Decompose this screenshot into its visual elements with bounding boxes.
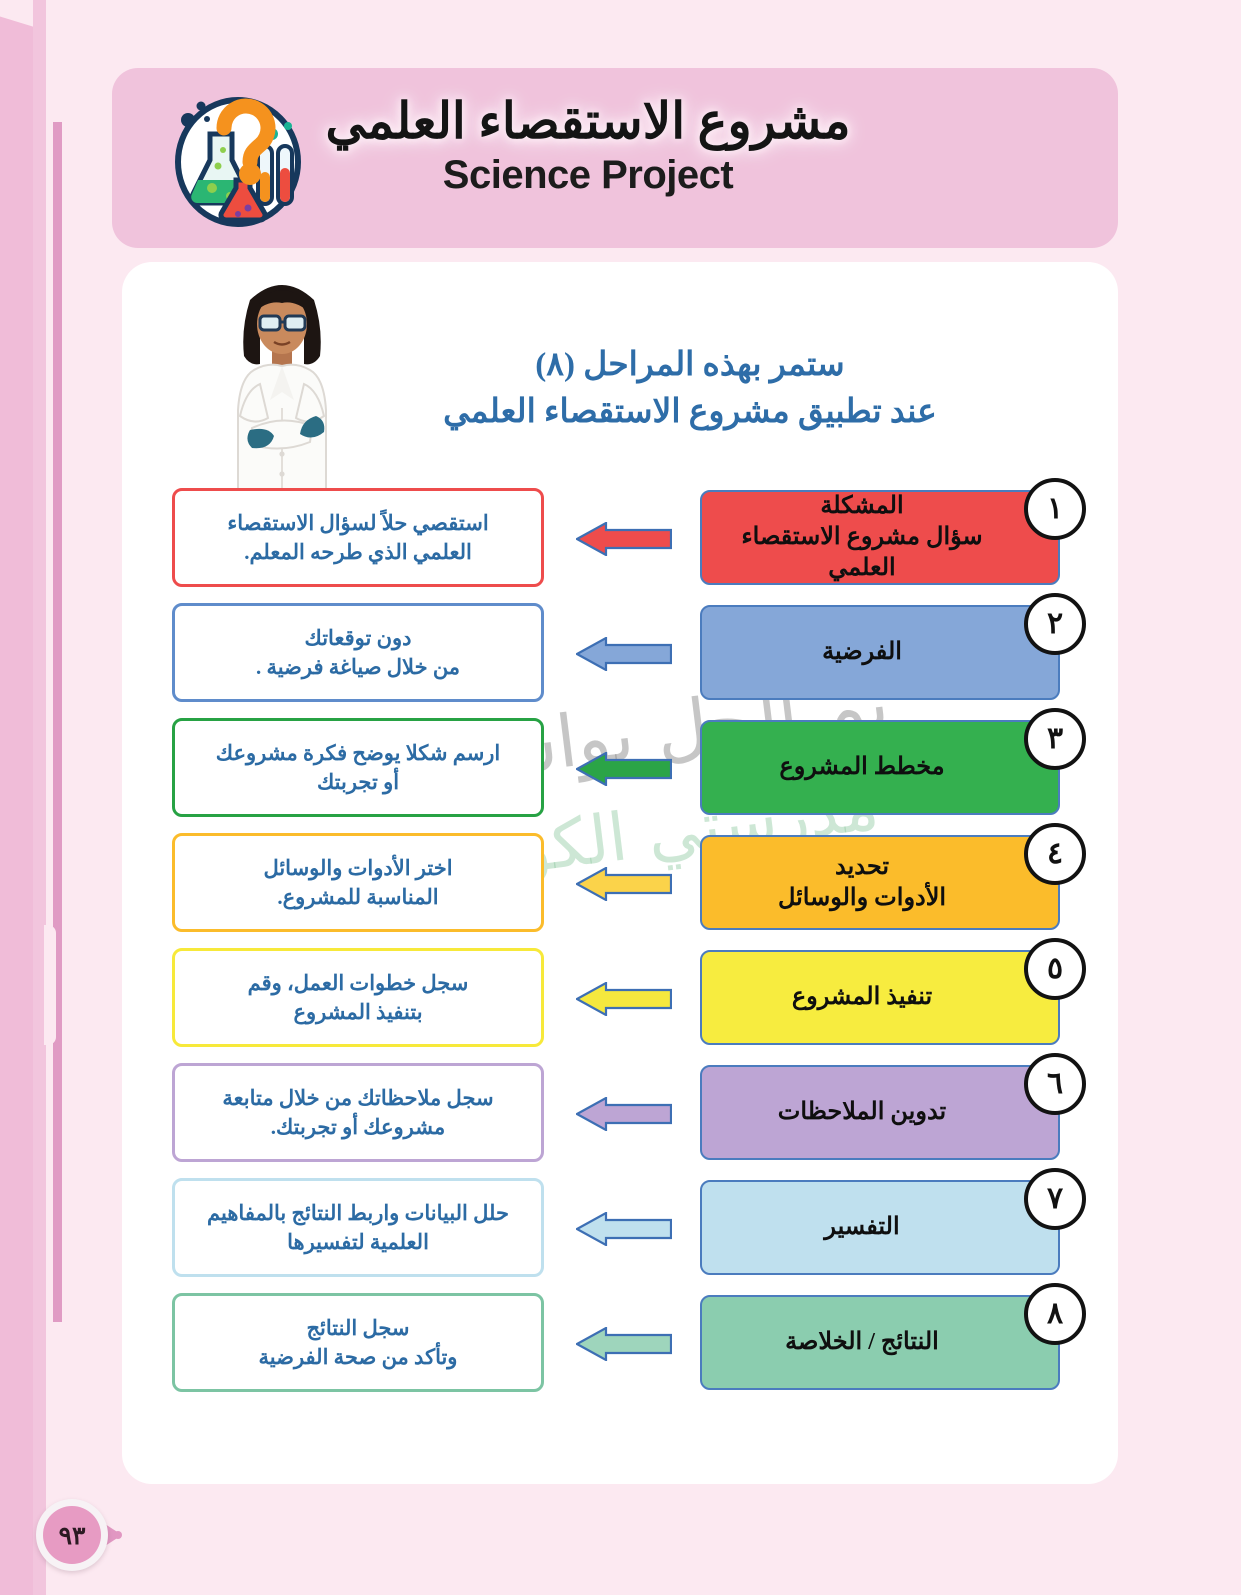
intro-text: ستمر بهذه المراحل (٨) عند تطبيق مشروع ال… <box>390 342 990 436</box>
step-note-line2-6: مشروعك أو تجربتك. <box>271 1115 446 1139</box>
step-note-box-7: حلل البيانات واربط النتائج بالمفاهيم الع… <box>172 1178 544 1277</box>
page-number: ٩٣ <box>43 1506 101 1564</box>
step-label-line1-3: مخطط المشروع <box>779 752 944 783</box>
step-arrow-4 <box>576 867 672 901</box>
step-arrow-3 <box>576 752 672 786</box>
step-label-line1-4: تحديد <box>835 854 889 880</box>
page-header: مشروع الاستقصاء العلمي Science Project <box>112 68 1118 248</box>
step-row: الفرضية ٢ دون توقعاتك من خلال صياغة فرضي… <box>160 595 1060 710</box>
step-note-line1-4: اختر الأدوات والوسائل <box>263 856 452 880</box>
page-number-badge: ٩٣ <box>30 1495 180 1575</box>
step-number-circle-7: ٧ <box>1024 1168 1086 1230</box>
header-title-group: مشروع الاستقصاء العلمي Science Project <box>238 92 938 198</box>
step-note-box-1: استقصي حلاً لسؤال الاستقصاء العلمي الذي … <box>172 488 544 587</box>
step-note-box-5: سجل خطوات العمل، وقم بتنفيذ المشروع <box>172 948 544 1047</box>
page-edge-notch <box>44 925 56 1045</box>
step-number-circle-5: ٥ <box>1024 938 1086 1000</box>
step-label-box-2: الفرضية ٢ <box>700 605 1060 700</box>
page-edge-line <box>53 122 62 1322</box>
step-note-line2-2: من خلال صياغة فرضية . <box>256 655 460 679</box>
step-arrow-1 <box>576 522 672 556</box>
step-note-line2-3: أو تجربتك <box>317 770 399 794</box>
step-note-line2-8: وتأكد من صحة الفرضية <box>259 1345 458 1369</box>
step-note-line2-7: العلمية لتفسيرها <box>287 1230 429 1254</box>
science-flasks-question-icon <box>160 84 310 234</box>
intro-line-1: ستمر بهذه المراحل (٨) <box>390 342 990 389</box>
step-arrow-8 <box>576 1327 672 1361</box>
step-note-line1-2: دون توقعاتك <box>305 626 412 650</box>
step-number-circle-3: ٣ <box>1024 708 1086 770</box>
step-row: مخطط المشروع ٣ ارسم شكلا يوضح فكرة مشروع… <box>160 710 1060 825</box>
step-number-circle-1: ١ <box>1024 478 1086 540</box>
step-note-line2-1: العلمي الذي طرحه المعلم. <box>244 540 472 564</box>
textbook-page: مشروع الاستقصاء العلمي Science Project <box>0 0 1241 1595</box>
step-label-box-3: مخطط المشروع ٣ <box>700 720 1060 815</box>
step-number-circle-8: ٨ <box>1024 1283 1086 1345</box>
step-arrow-2 <box>576 637 672 671</box>
step-note-line2-4: المناسبة للمشروع. <box>277 885 438 909</box>
steps-flow: المشكلة سؤال مشروع الاستقصاء العلمي ١ اس… <box>160 480 1060 1400</box>
step-label-line1-6: تدوين الملاحظات <box>778 1097 946 1128</box>
step-label-line1-7: التفسير <box>824 1212 899 1243</box>
step-number-circle-4: ٤ <box>1024 823 1086 885</box>
step-label-box-1: المشكلة سؤال مشروع الاستقصاء العلمي ١ <box>700 490 1060 585</box>
page-title-english: Science Project <box>238 153 938 198</box>
step-row: تحديد الأدوات والوسائل ٤ اختر الأدوات وا… <box>160 825 1060 940</box>
step-row: تدوين الملاحظات ٦ سجل ملاحظاتك من خلال م… <box>160 1055 1060 1170</box>
step-note-line1-6: سجل ملاحظاتك من خلال متابعة <box>222 1086 493 1110</box>
step-note-line1-8: سجل النتائج <box>306 1316 409 1340</box>
intro-line-2: عند تطبيق مشروع الاستقصاء العلمي <box>390 389 990 436</box>
step-arrow-7 <box>576 1212 672 1246</box>
step-label-box-8: النتائج / الخلاصة ٨ <box>700 1295 1060 1390</box>
step-note-line1-5: سجل خطوات العمل، وقم <box>248 971 469 995</box>
page-edge-band <box>33 0 46 1595</box>
step-note-line1-3: ارسم شكلا يوضح فكرة مشروعك <box>216 741 501 765</box>
step-label-line1-1: المشكلة <box>820 493 903 519</box>
step-note-box-4: اختر الأدوات والوسائل المناسبة للمشروع. <box>172 833 544 932</box>
step-label-line1-8: النتائج / الخلاصة <box>785 1327 939 1358</box>
step-note-line1-7: حلل البيانات واربط النتائج بالمفاهيم <box>207 1201 509 1225</box>
step-label-line1-5: تنفيذ المشروع <box>792 982 932 1013</box>
step-label-box-4: تحديد الأدوات والوسائل ٤ <box>700 835 1060 930</box>
step-label-line1-2: الفرضية <box>822 637 902 668</box>
step-row: تنفيذ المشروع ٥ سجل خطوات العمل، وقم بتن… <box>160 940 1060 1055</box>
step-label-box-5: تنفيذ المشروع ٥ <box>700 950 1060 1045</box>
page-title-arabic: مشروع الاستقصاء العلمي <box>238 92 938 151</box>
step-arrow-5 <box>576 982 672 1016</box>
step-note-box-6: سجل ملاحظاتك من خلال متابعة مشروعك أو تج… <box>172 1063 544 1162</box>
step-note-box-3: ارسم شكلا يوضح فكرة مشروعك أو تجربتك <box>172 718 544 817</box>
step-row: المشكلة سؤال مشروع الاستقصاء العلمي ١ اس… <box>160 480 1060 595</box>
step-note-line1-1: استقصي حلاً لسؤال الاستقصاء <box>227 511 488 535</box>
step-row: التفسير ٧ حلل البيانات واربط النتائج بال… <box>160 1170 1060 1285</box>
page-arrow-dot-icon <box>114 1531 122 1539</box>
step-arrow-6 <box>576 1097 672 1131</box>
step-row: النتائج / الخلاصة ٨ سجل النتائج وتأكد من… <box>160 1285 1060 1400</box>
step-note-box-8: سجل النتائج وتأكد من صحة الفرضية <box>172 1293 544 1392</box>
step-note-box-2: دون توقعاتك من خلال صياغة فرضية . <box>172 603 544 702</box>
step-note-line2-5: بتنفيذ المشروع <box>293 1000 422 1024</box>
step-number-circle-6: ٦ <box>1024 1053 1086 1115</box>
step-label-line2-4: الأدوات والوسائل <box>778 885 946 911</box>
step-label-box-6: تدوين الملاحظات ٦ <box>700 1065 1060 1160</box>
step-label-box-7: التفسير ٧ <box>700 1180 1060 1275</box>
step-number-circle-2: ٢ <box>1024 593 1086 655</box>
step-label-line2-1: سؤال مشروع الاستقصاء العلمي <box>741 524 982 581</box>
